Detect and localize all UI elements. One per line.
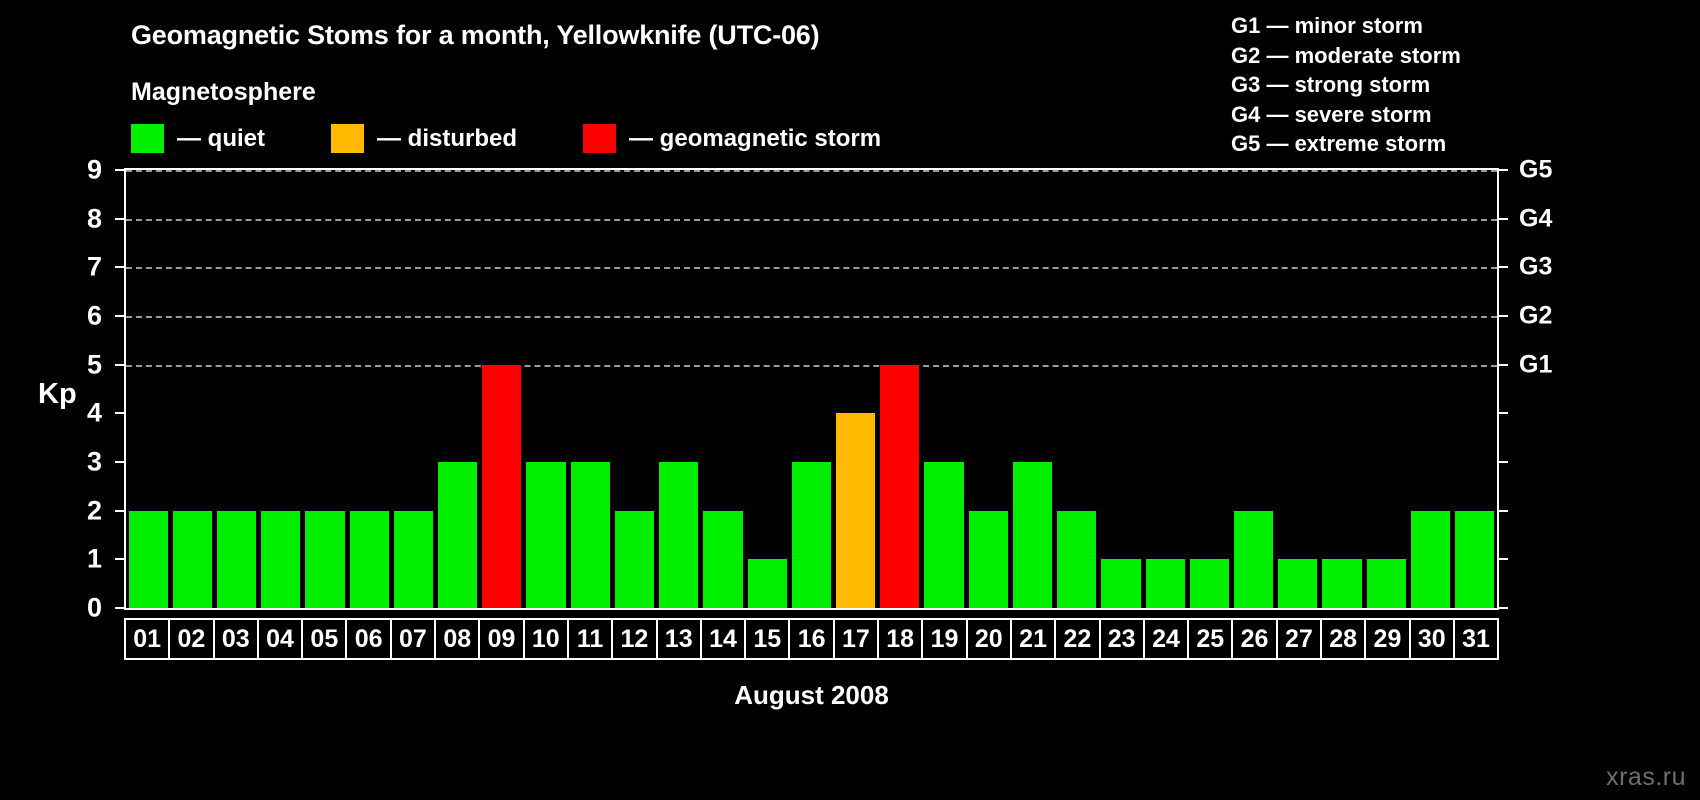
g-tick-mark-kp-0 <box>1499 607 1508 609</box>
legend-item-disturbed: — disturbed <box>331 124 517 153</box>
day-label-21[interactable]: 21 <box>1010 618 1056 660</box>
day-label-18[interactable]: 18 <box>877 618 923 660</box>
g-tick-mark-kp-6 <box>1499 315 1508 317</box>
y-tick-label-5: 5 <box>62 349 102 380</box>
y-tick-mark-5 <box>115 364 124 366</box>
g-tick-mark-kp-2 <box>1499 510 1508 512</box>
bar-day-15[interactable] <box>748 559 787 608</box>
day-label-16[interactable]: 16 <box>788 618 834 660</box>
day-label-15[interactable]: 15 <box>744 618 790 660</box>
bar-day-12[interactable] <box>615 511 654 608</box>
legend-label-storm: — geomagnetic storm <box>629 125 881 153</box>
day-label-25[interactable]: 25 <box>1187 618 1233 660</box>
legend-swatch-disturbed-icon <box>331 124 364 153</box>
day-label-06[interactable]: 06 <box>345 618 391 660</box>
bar-slot-06[interactable] <box>347 170 391 608</box>
bar-day-01[interactable] <box>129 511 168 608</box>
y-tick-label-3: 3 <box>62 447 102 478</box>
bar-day-09[interactable] <box>482 365 521 608</box>
y-tick-mark-3 <box>115 461 124 463</box>
x-axis-title: August 2008 <box>124 680 1499 711</box>
day-label-14[interactable]: 14 <box>700 618 746 660</box>
day-label-04[interactable]: 04 <box>257 618 303 660</box>
bar-slot-20[interactable] <box>966 170 1010 608</box>
day-label-28[interactable]: 28 <box>1320 618 1366 660</box>
day-label-19[interactable]: 19 <box>921 618 967 660</box>
bar-slot-11[interactable] <box>568 170 612 608</box>
day-label-11[interactable]: 11 <box>567 618 613 660</box>
bar-slot-12[interactable] <box>612 170 656 608</box>
y-tick-mark-1 <box>115 558 124 560</box>
bar-day-30[interactable] <box>1411 511 1450 608</box>
y-tick-label-6: 6 <box>62 301 102 332</box>
y-tick-label-9: 9 <box>62 155 102 186</box>
bar-slot-09[interactable] <box>480 170 524 608</box>
y-tick-mark-4 <box>115 412 124 414</box>
bar-day-28[interactable] <box>1322 559 1361 608</box>
bar-slot-08[interactable] <box>436 170 480 608</box>
bar-day-05[interactable] <box>305 511 344 608</box>
day-label-23[interactable]: 23 <box>1099 618 1145 660</box>
plot-area <box>124 168 1499 610</box>
g-scale-line-g5: G5 — extreme storm <box>1231 129 1461 159</box>
y-tick-mark-0 <box>115 607 124 609</box>
x-axis-day-labels: 0102030405060708091011121314151617181920… <box>124 618 1499 660</box>
y-tick-label-1: 1 <box>62 544 102 575</box>
day-label-02[interactable]: 02 <box>168 618 214 660</box>
bar-slot-04[interactable] <box>259 170 303 608</box>
y-tick-mark-2 <box>115 510 124 512</box>
bar-day-31[interactable] <box>1455 511 1494 608</box>
day-label-09[interactable]: 09 <box>478 618 524 660</box>
day-label-03[interactable]: 03 <box>213 618 259 660</box>
g-scale-line-g1: G1 — minor storm <box>1231 11 1461 41</box>
day-label-10[interactable]: 10 <box>523 618 569 660</box>
bar-slot-14[interactable] <box>701 170 745 608</box>
page-title: Geomagnetic Stoms for a month, Yellowkni… <box>131 20 819 51</box>
bar-slot-07[interactable] <box>391 170 435 608</box>
bar-day-24[interactable] <box>1146 559 1185 608</box>
day-label-13[interactable]: 13 <box>656 618 702 660</box>
legend-swatch-storm-icon <box>583 124 616 153</box>
plot-inner <box>126 170 1497 608</box>
day-label-29[interactable]: 29 <box>1364 618 1410 660</box>
bar-slot-23[interactable] <box>1099 170 1143 608</box>
bar-day-21[interactable] <box>1013 462 1052 608</box>
y-tick-mark-7 <box>115 266 124 268</box>
bar-slot-01[interactable] <box>126 170 170 608</box>
bar-slot-26[interactable] <box>1231 170 1275 608</box>
watermark: xras.ru <box>1606 763 1686 792</box>
y-tick-label-2: 2 <box>62 495 102 526</box>
g-tick-label-g1: G1 <box>1519 350 1552 379</box>
bar-slot-27[interactable] <box>1276 170 1320 608</box>
g-scale-line-g2: G2 — moderate storm <box>1231 41 1461 71</box>
bar-day-11[interactable] <box>571 462 610 608</box>
bar-day-18[interactable] <box>880 365 919 608</box>
legend-item-quiet: — quiet <box>131 124 265 153</box>
g-tick-mark-kp-4 <box>1499 412 1508 414</box>
bar-slot-17[interactable] <box>834 170 878 608</box>
legend-label-quiet: — quiet <box>177 125 265 153</box>
bar-day-16[interactable] <box>792 462 831 608</box>
bar-day-13[interactable] <box>659 462 698 608</box>
g-tick-mark-kp-8 <box>1499 218 1508 220</box>
bar-slot-13[interactable] <box>657 170 701 608</box>
bar-day-03[interactable] <box>217 511 256 608</box>
day-label-08[interactable]: 08 <box>434 618 480 660</box>
bar-slot-18[interactable] <box>878 170 922 608</box>
bar-slot-02[interactable] <box>170 170 214 608</box>
y-tick-mark-8 <box>115 218 124 220</box>
day-label-07[interactable]: 07 <box>390 618 436 660</box>
g-scale-legend: G1 — minor storm G2 — moderate storm G3 … <box>1231 11 1461 159</box>
bar-slot-21[interactable] <box>1010 170 1054 608</box>
bar-day-10[interactable] <box>526 462 565 608</box>
legend-item-storm: — geomagnetic storm <box>583 124 881 153</box>
bar-day-07[interactable] <box>394 511 433 608</box>
magnetosphere-legend: — quiet — disturbed — geomagnetic storm <box>131 124 881 153</box>
g-tick-mark-kp-9 <box>1499 169 1508 171</box>
bar-series <box>126 170 1497 608</box>
y-tick-label-0: 0 <box>62 593 102 624</box>
bar-day-14[interactable] <box>703 511 742 608</box>
day-label-20[interactable]: 20 <box>966 618 1012 660</box>
day-label-22[interactable]: 22 <box>1054 618 1100 660</box>
bar-slot-03[interactable] <box>214 170 258 608</box>
g-scale-line-g4: G4 — severe storm <box>1231 100 1461 130</box>
bar-day-22[interactable] <box>1057 511 1096 608</box>
y-tick-label-7: 7 <box>62 252 102 283</box>
bar-slot-16[interactable] <box>789 170 833 608</box>
g-tick-label-g4: G4 <box>1519 204 1552 233</box>
bar-day-20[interactable] <box>969 511 1008 608</box>
bar-day-06[interactable] <box>350 511 389 608</box>
bar-slot-22[interactable] <box>1055 170 1099 608</box>
bar-slot-30[interactable] <box>1408 170 1452 608</box>
y-tick-label-4: 4 <box>62 398 102 429</box>
g-tick-label-g2: G2 <box>1519 302 1552 331</box>
bar-day-17[interactable] <box>836 413 875 608</box>
g-tick-mark-kp-5 <box>1499 364 1508 366</box>
day-label-05[interactable]: 05 <box>301 618 347 660</box>
bar-slot-29[interactable] <box>1364 170 1408 608</box>
day-label-12[interactable]: 12 <box>611 618 657 660</box>
bar-slot-25[interactable] <box>1187 170 1231 608</box>
bar-slot-05[interactable] <box>303 170 347 608</box>
y-tick-mark-6 <box>115 315 124 317</box>
y-tick-label-8: 8 <box>62 203 102 234</box>
bar-slot-31[interactable] <box>1453 170 1497 608</box>
g-tick-label-g3: G3 <box>1519 253 1552 282</box>
legend-label-disturbed: — disturbed <box>377 125 517 153</box>
bar-slot-19[interactable] <box>922 170 966 608</box>
bar-slot-10[interactable] <box>524 170 568 608</box>
bar-day-26[interactable] <box>1234 511 1273 608</box>
g-tick-mark-kp-7 <box>1499 266 1508 268</box>
day-label-01[interactable]: 01 <box>124 618 170 660</box>
day-label-31[interactable]: 31 <box>1453 618 1499 660</box>
g-tick-label-g5: G5 <box>1519 156 1552 185</box>
g-tick-mark-kp-3 <box>1499 461 1508 463</box>
day-label-26[interactable]: 26 <box>1231 618 1277 660</box>
bar-slot-28[interactable] <box>1320 170 1364 608</box>
bar-day-23[interactable] <box>1101 559 1140 608</box>
legend-swatch-quiet-icon <box>131 124 164 153</box>
y-tick-mark-9 <box>115 169 124 171</box>
g-tick-mark-kp-1 <box>1499 558 1508 560</box>
bar-slot-15[interactable] <box>745 170 789 608</box>
day-label-17[interactable]: 17 <box>833 618 879 660</box>
bar-day-04[interactable] <box>261 511 300 608</box>
g-scale-line-g3: G3 — strong storm <box>1231 70 1461 100</box>
day-label-27[interactable]: 27 <box>1276 618 1322 660</box>
bar-day-08[interactable] <box>438 462 477 608</box>
bar-day-02[interactable] <box>173 511 212 608</box>
day-label-24[interactable]: 24 <box>1143 618 1189 660</box>
bar-day-25[interactable] <box>1190 559 1229 608</box>
bar-day-19[interactable] <box>924 462 963 608</box>
bar-day-27[interactable] <box>1278 559 1317 608</box>
day-label-30[interactable]: 30 <box>1409 618 1455 660</box>
legend-heading: Magnetosphere <box>131 78 316 107</box>
bar-slot-24[interactable] <box>1143 170 1187 608</box>
bar-day-29[interactable] <box>1367 559 1406 608</box>
